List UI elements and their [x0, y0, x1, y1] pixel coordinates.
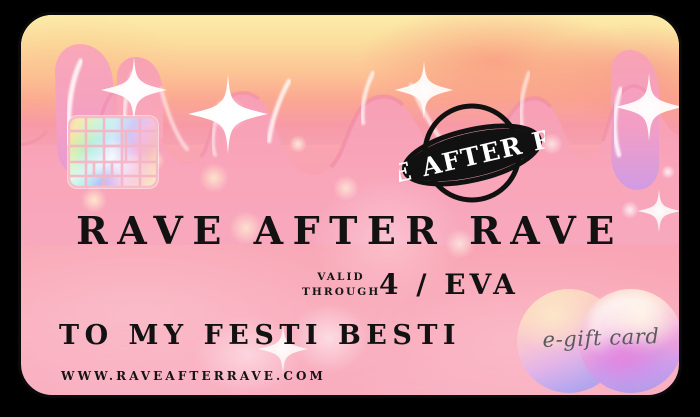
valid-label-line1: VALID	[317, 271, 364, 283]
e-gift-card-badge: e-gift card	[511, 285, 682, 398]
logo-ring-text: RAVE AFTER RAVE	[399, 110, 545, 203]
valid-label-line2: THROUGH	[302, 286, 380, 298]
holographic-chip-icon	[68, 116, 158, 188]
gift-card-canvas: RAVE AFTER RAVE RAVE AFTER RAVE VALID TH…	[0, 0, 700, 417]
gift-message: TO MY FESTI BESTI	[59, 320, 461, 351]
planet-ring-logo-icon: RAVE AFTER RAVE	[399, 97, 545, 209]
page-title: RAVE AFTER RAVE	[21, 208, 679, 253]
valid-through-label: VALID THROUGH	[302, 270, 380, 300]
valid-through-value: 4 / EVA	[379, 268, 519, 301]
chip-grid-lines	[68, 116, 158, 188]
website-url: WWW.RAVEAFTERRAVE.COM	[61, 369, 326, 383]
gift-card: RAVE AFTER RAVE RAVE AFTER RAVE VALID TH…	[18, 12, 682, 398]
